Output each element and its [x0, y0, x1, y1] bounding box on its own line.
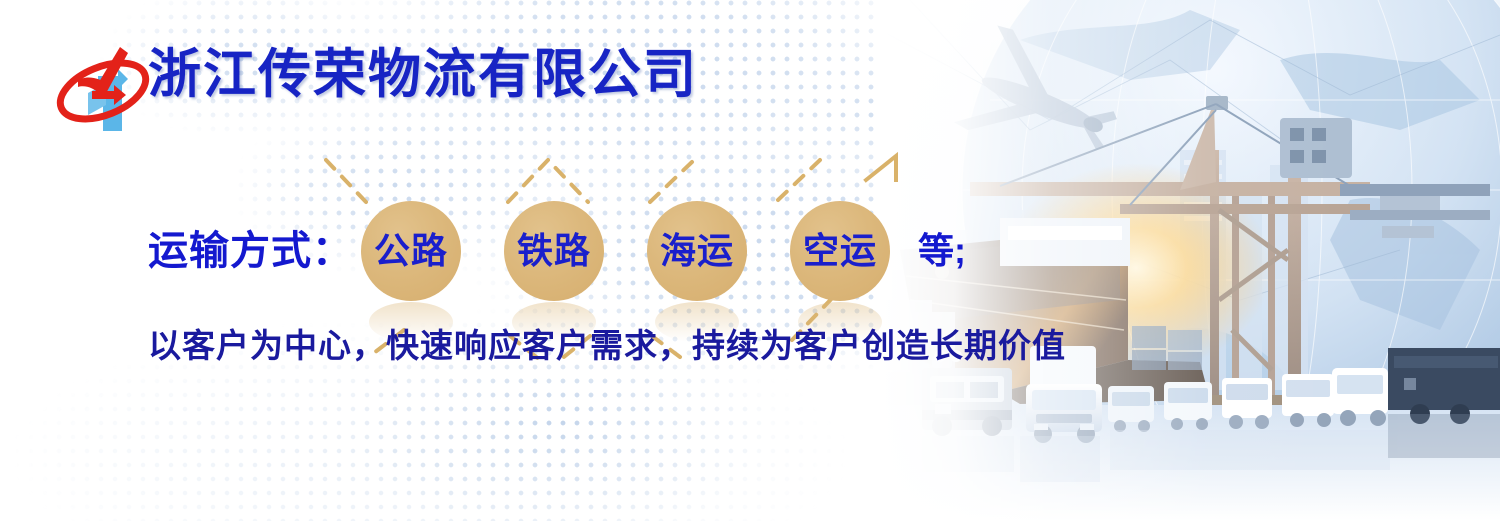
logistics-banner: 浙江传荣物流有限公司 运输方式： 公路 [0, 0, 1500, 521]
transport-bubble-label: 铁路 [517, 233, 591, 269]
transport-mode-row: 运输方式： 公路 铁路 海运 空运 等; [148, 205, 966, 297]
transport-bubble-rail[interactable]: 铁路 [504, 201, 604, 301]
transport-label: 运输方式： [148, 231, 353, 271]
transport-etc: 等; [918, 233, 966, 269]
transport-bubble-label: 空运 [803, 233, 877, 269]
company-logo [48, 35, 158, 145]
transport-bubble-air[interactable]: 空运 [790, 201, 890, 301]
transport-bubble-label: 公路 [374, 233, 448, 269]
transport-bubble-sea[interactable]: 海运 [647, 201, 747, 301]
company-slogan: 以客户为中心，快速响应客户需求，持续为客户创造长期价值 [148, 325, 1066, 368]
transport-bubble-road[interactable]: 公路 [361, 201, 461, 301]
logistics-photo-collage [880, 0, 1500, 521]
red-ellipse-blue-arrow-logo [48, 35, 158, 145]
company-name: 浙江传荣物流有限公司 [148, 48, 698, 101]
transport-bubbles: 公路 铁路 海运 空运 [361, 201, 890, 301]
transport-bubble-label: 海运 [660, 233, 734, 269]
